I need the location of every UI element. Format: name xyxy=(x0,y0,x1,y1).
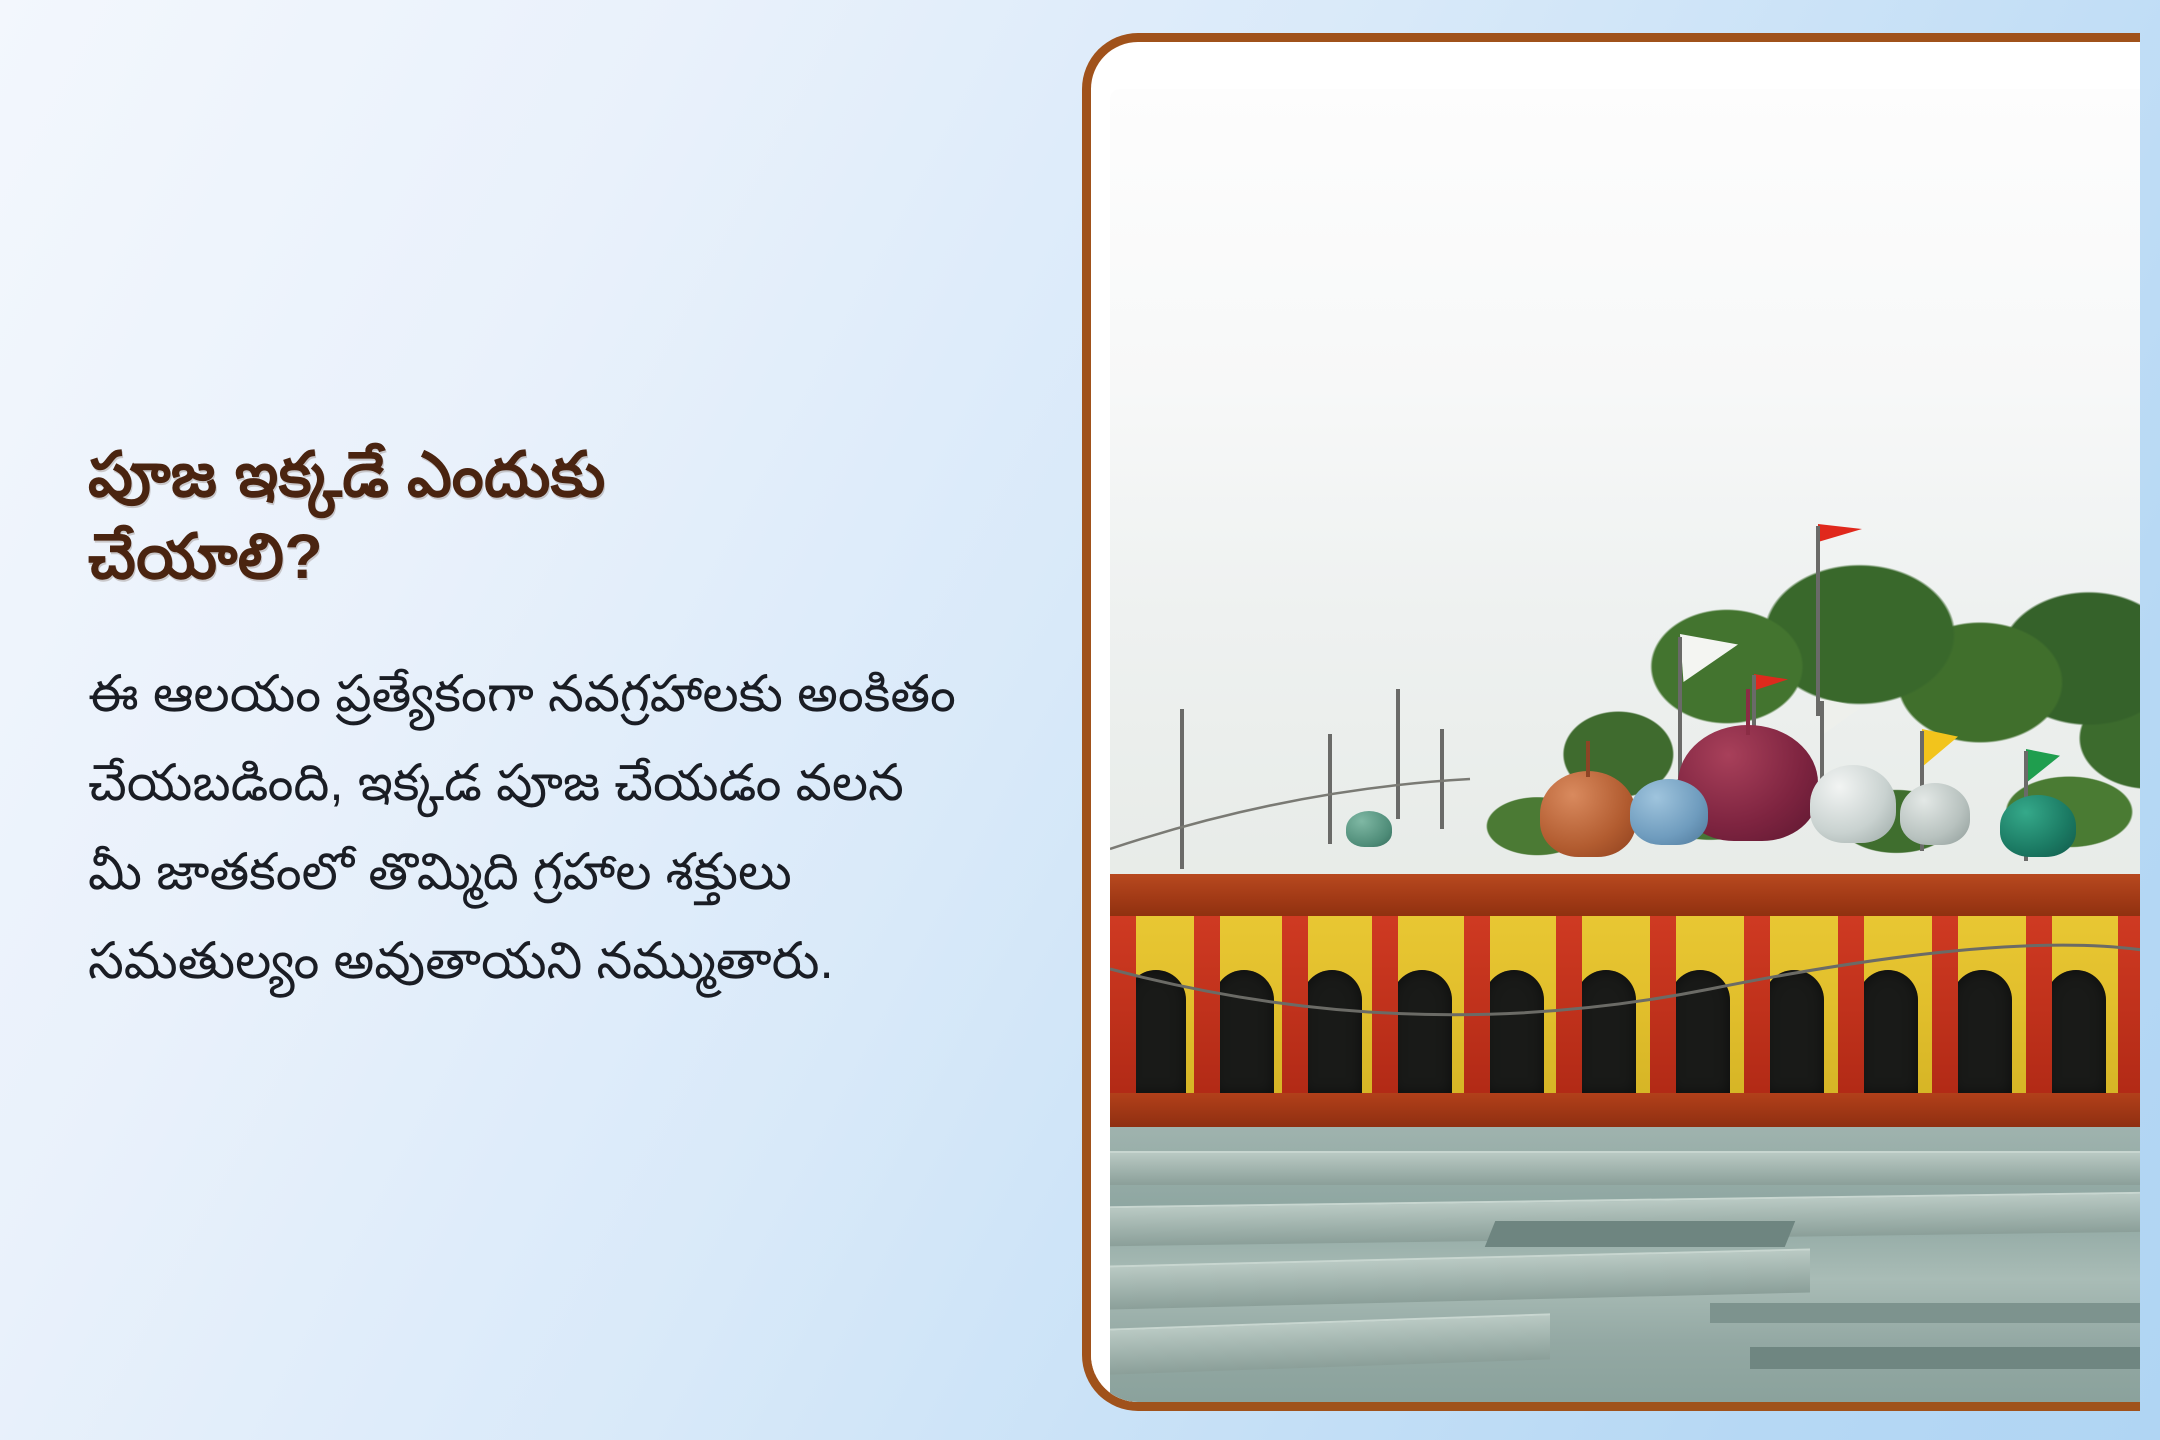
dome-blue xyxy=(1630,779,1708,845)
arch-opening xyxy=(1392,970,1452,1094)
spire xyxy=(1586,741,1590,777)
flagpole xyxy=(1816,526,1820,716)
temple-pillar xyxy=(1372,916,1398,1094)
flagpole xyxy=(1180,709,1184,869)
dome-grey xyxy=(1900,783,1970,845)
temple-pillar xyxy=(1556,916,1582,1094)
temple-pillar xyxy=(1464,916,1490,1094)
flagpole xyxy=(1328,734,1332,844)
arch-opening xyxy=(1302,970,1362,1094)
frame-notch xyxy=(1082,88,1108,1374)
flagpole xyxy=(1396,689,1400,819)
arch-opening xyxy=(1764,970,1824,1094)
temple-photo xyxy=(1110,89,2140,1411)
photo-frame xyxy=(1082,33,2140,1411)
flagpole xyxy=(1440,729,1444,829)
body-paragraph: ఈ ఆలయం ప్రత్యేకంగా నవగ్రహాలకు అంకితం చేయ… xyxy=(88,650,968,1005)
dome-silver xyxy=(1810,765,1896,843)
temple-pillar xyxy=(1744,916,1770,1094)
arch-opening xyxy=(1576,970,1636,1094)
arch-opening xyxy=(2046,970,2106,1094)
arch-opening xyxy=(1858,970,1918,1094)
temple-colonnade xyxy=(1110,916,2140,1094)
dome-small-teal xyxy=(1346,811,1392,847)
plaza-ledge xyxy=(1750,1347,2140,1369)
temple-pillar xyxy=(2118,916,2140,1094)
temple-pillar xyxy=(1110,916,1136,1094)
plaza-ledge xyxy=(1710,1303,2140,1323)
dome-copper xyxy=(1540,771,1636,857)
temple-pillar xyxy=(1282,916,1308,1094)
temple-roof xyxy=(1110,874,2140,918)
arch-opening xyxy=(1484,970,1544,1094)
temple-pillar xyxy=(1194,916,1220,1094)
temple-plinth xyxy=(1110,1093,2140,1128)
arch-opening xyxy=(1952,970,2012,1094)
temple-pillar xyxy=(1932,916,1958,1094)
arch-opening xyxy=(1214,970,1274,1094)
drain-cover xyxy=(1485,1221,1796,1247)
text-column: పూజ ఇక్కడే ఎందుకు చేయాలి? ఈ ఆలయం ప్రత్యే… xyxy=(88,0,1028,1440)
dome-teal xyxy=(2000,795,2076,857)
spire xyxy=(1746,689,1750,735)
plaza-step xyxy=(1110,1151,2140,1185)
page-title: పూజ ఇక్కడే ఎందుకు చేయాలి? xyxy=(88,435,848,599)
arch-opening xyxy=(1670,970,1730,1094)
temple-pillar xyxy=(1838,916,1864,1094)
temple-pillar xyxy=(1650,916,1676,1094)
temple-pillar xyxy=(2026,916,2052,1094)
